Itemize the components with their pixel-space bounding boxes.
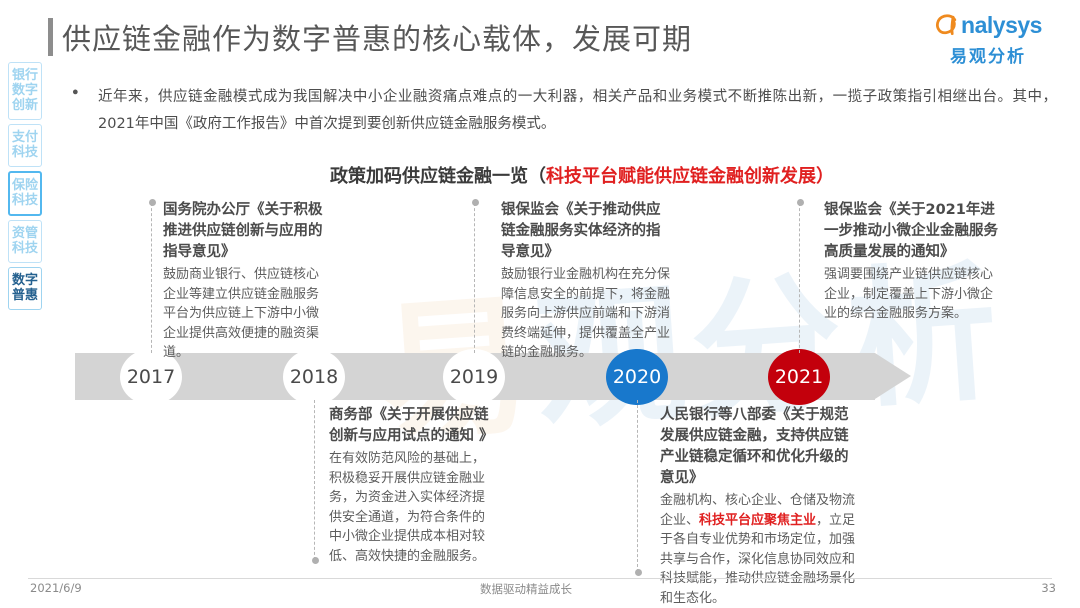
- timeline-year-label: 2018: [290, 366, 338, 388]
- analysys-swirl-icon: [934, 12, 960, 38]
- footer-page-number: 33: [1041, 581, 1056, 595]
- chart-title: 政策加码供应链金融一览（科技平台赋能供应链金融创新发展）: [330, 162, 834, 188]
- chart-title-highlight: 科技平台赋能供应链金融创新发展: [546, 166, 816, 187]
- connector-2020: [637, 400, 638, 572]
- sidebar-item-payment-tech[interactable]: 支付科技: [8, 124, 42, 167]
- chart-title-paren-open: （: [528, 166, 546, 187]
- footer-date: 2021/6/9: [30, 581, 82, 595]
- policy-block-2021: 银保监会《关于2021年进一步推动小微企业金融服务高质量发展的通知》 强调要围绕…: [824, 200, 1004, 324]
- sidebar-item-label: 支付科技: [9, 130, 41, 160]
- connector-2021: [799, 203, 800, 353]
- sidebar-item-label: 数字普惠: [9, 273, 41, 303]
- sidebar-item-insurance-tech[interactable]: 保险科技: [8, 171, 42, 216]
- logo-wordmark: nalysys: [961, 12, 1042, 38]
- logo-chinese-name: 易观分析: [918, 42, 1058, 67]
- policy-body: 强调要围绕产业链供应链核心企业，制定覆盖上下游小微企业的综合金融服务方案。: [824, 265, 1004, 324]
- sidebar-item-bank-digital-innovation[interactable]: 银行数字创新: [8, 62, 42, 120]
- footer-divider: [28, 578, 1052, 579]
- sidebar-item-label: 银行数字创新: [9, 68, 41, 113]
- sidebar-item-label: 资管科技: [9, 226, 41, 256]
- timeline-year-label: 2017: [127, 366, 175, 388]
- policy-body: 金融机构、核心企业、仓储及物流企业、科技平台应聚焦主业，立足于各自专业优势和市场…: [660, 491, 860, 608]
- policy-title: 国务院办公厅《关于积极推进供应链创新与应用的指导意见》: [163, 200, 328, 263]
- policy-title: 人民银行等八部委《关于规范发展供应链金融，支持供应链产业链稳定循环和优化升级的意…: [660, 405, 860, 489]
- policy-block-2018: 商务部《关于开展供应链创新与应用试点的通知 》 在有效防范风险的基础上，积极稳妥…: [329, 405, 497, 566]
- policy-block-2019: 银保监会《关于推动供应链金融服务实体经济的指导意见》 鼓励银行业金融机构在充分保…: [501, 200, 673, 363]
- connector-2017: [151, 203, 152, 353]
- bullet-marker: ●: [72, 86, 79, 98]
- policy-body: 在有效防范风险的基础上，积极稳妥开展供应链金融业务，为资金进入实体经济提供安全通…: [329, 449, 497, 566]
- timeline-year-label: 2021: [775, 366, 823, 388]
- title-accent-bar: [48, 18, 53, 56]
- bullet-paragraph: ● 近年来，供应链金融模式成为我国解决中小企业融资痛点难点的一大利器，相关产品和…: [72, 84, 1057, 138]
- sidebar-item-asset-management-tech[interactable]: 资管科技: [8, 220, 42, 263]
- sidebar: 银行数字创新 支付科技 保险科技 资管科技 数字普惠: [8, 62, 42, 314]
- timeline-year-label: 2020: [613, 366, 661, 388]
- policy-title: 银保监会《关于推动供应链金融服务实体经济的指导意见》: [501, 200, 673, 263]
- policy-body-highlight: 科技平台应聚焦主业: [699, 513, 816, 528]
- sidebar-item-label: 保险科技: [10, 178, 40, 208]
- chart-title-paren-close: ）: [816, 166, 834, 187]
- timeline-year-label: 2019: [450, 366, 498, 388]
- policy-title: 银保监会《关于2021年进一步推动小微企业金融服务高质量发展的通知》: [824, 200, 1004, 263]
- timeline-year-2021[interactable]: 2021: [768, 349, 830, 405]
- policy-block-2017: 国务院办公厅《关于积极推进供应链创新与应用的指导意见》 鼓励商业银行、供应链核心…: [163, 200, 328, 363]
- connector-2018: [314, 400, 315, 560]
- timeline-year-2019[interactable]: 2019: [443, 349, 505, 405]
- timeline-arrow-head: [875, 353, 911, 399]
- page-title: 供应链金融作为数字普惠的核心载体，发展可期: [62, 16, 692, 58]
- connector-2019: [474, 203, 475, 353]
- chart-title-main: 政策加码供应链金融一览: [330, 166, 528, 187]
- footer-tagline: 数据驱动精益成长: [480, 581, 572, 597]
- sidebar-item-digital-inclusive-finance[interactable]: 数字普惠: [8, 267, 42, 310]
- slide-canvas: 易观分析 供应链金融作为数字普惠的核心载体，发展可期 nalysys 易观分析 …: [0, 0, 1080, 608]
- policy-title: 商务部《关于开展供应链创新与应用试点的通知 》: [329, 405, 497, 447]
- brand-logo: nalysys 易观分析: [918, 10, 1058, 67]
- policy-body: 鼓励银行业金融机构在充分保障信息安全的前提下，将金融服务向上游供应前端和下游消费…: [501, 265, 673, 363]
- bullet-text: 近年来，供应链金融模式成为我国解决中小企业融资痛点难点的一大利器，相关产品和业务…: [98, 84, 1057, 138]
- policy-body: 鼓励商业银行、供应链核心企业等建立供应链金融服务平台为供应链上下游中小微企业提供…: [163, 265, 328, 363]
